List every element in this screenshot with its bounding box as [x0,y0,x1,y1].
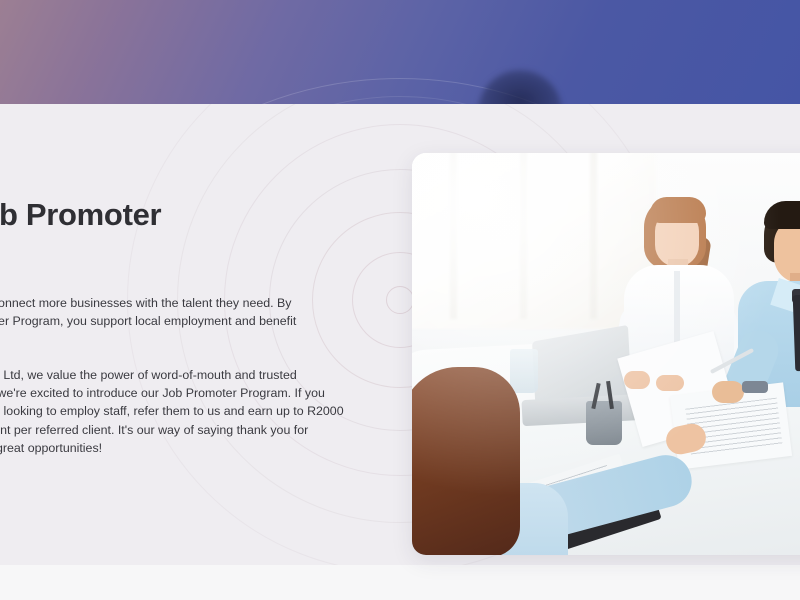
footer-strip [0,565,800,600]
hero-photo-card [412,153,800,555]
details-paragraph: At Pro Staffing Solutions (PTY) Ltd, we … [0,366,344,457]
decorative-ring-1 [386,286,414,314]
hero-text-column: Join Our Job Promoter Program Join our n… [0,196,346,518]
page-title-line1: Join Our Job Promoter [0,196,346,234]
page-root: Join Our Job Promoter Program Join our n… [0,0,800,600]
photo-light-overlay [412,153,800,555]
page-title-line2: Program [0,234,346,272]
hero-banner [0,0,800,104]
banner-arc-inner [120,96,680,104]
person-silhouette-icon [478,70,562,104]
intro-paragraph: Join our network and help us connect mor… [0,294,344,349]
page-title: Join Our Job Promoter Program [0,196,346,272]
